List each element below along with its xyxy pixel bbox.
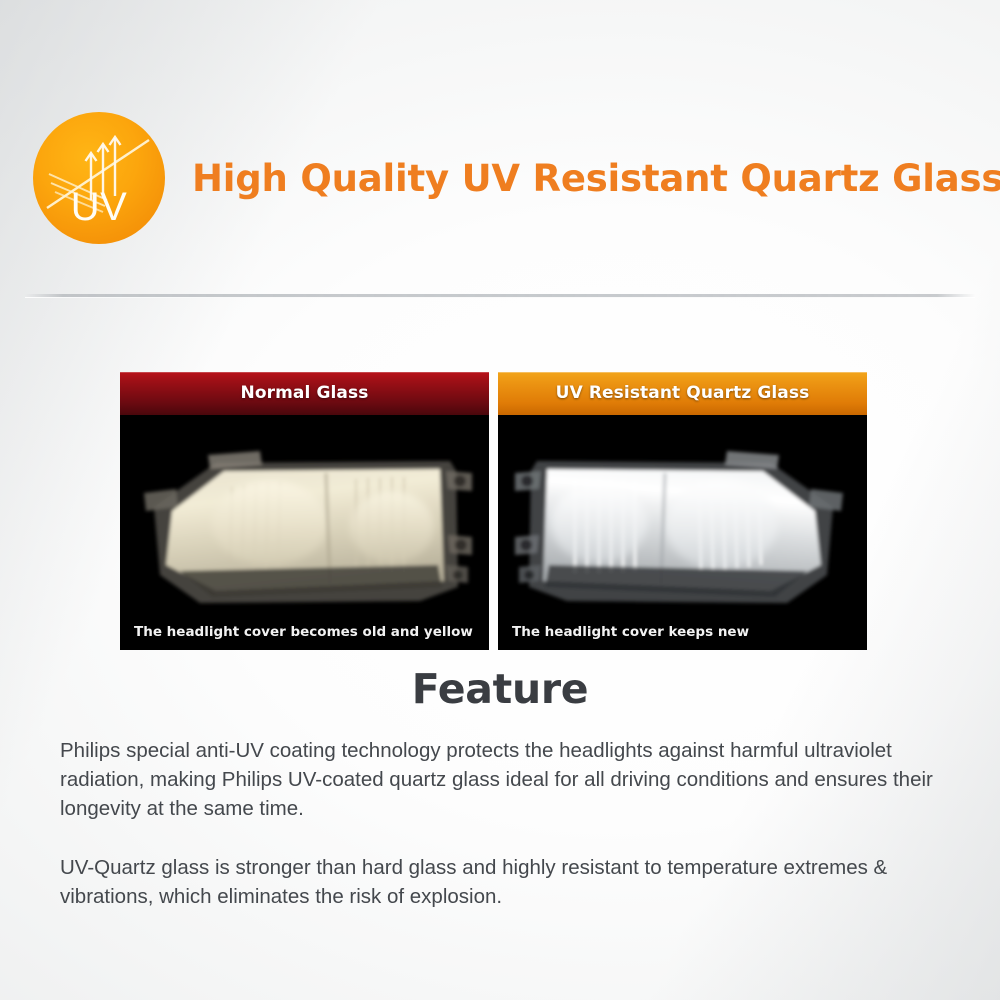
feature-paragraph-1: Philips special anti-UV coating technolo… (60, 736, 953, 823)
panel-caption-uv-quartz-glass: The headlight cover keeps new (498, 615, 867, 650)
panel-caption-normal-glass: The headlight cover becomes old and yell… (120, 615, 489, 650)
feature-heading: Feature (0, 665, 1000, 713)
comparison-panel-normal-glass: Normal Glass (120, 372, 489, 650)
panel-heading-uv-quartz-glass: UV Resistant Quartz Glass (498, 372, 867, 415)
header-banner: UV High Quality UV Resistant Quartz Glas… (0, 108, 1000, 248)
comparison-section: Normal Glass (120, 372, 867, 650)
uv-sun-rays-icon: UV (33, 112, 165, 244)
clear-headlight-photo (498, 415, 867, 615)
feature-paragraph-2: UV-Quartz glass is stronger than hard gl… (60, 853, 953, 911)
infographic-page: UV High Quality UV Resistant Quartz Glas… (0, 0, 1000, 1000)
yellowed-headlight-photo (120, 415, 489, 615)
comparison-panel-uv-quartz-glass: UV Resistant Quartz Glass (498, 372, 867, 650)
panel-heading-normal-glass: Normal Glass (120, 372, 489, 415)
header-divider (25, 294, 975, 298)
uv-badge-label: UV (33, 185, 165, 230)
page-title: High Quality UV Resistant Quartz Glass (192, 157, 1000, 200)
